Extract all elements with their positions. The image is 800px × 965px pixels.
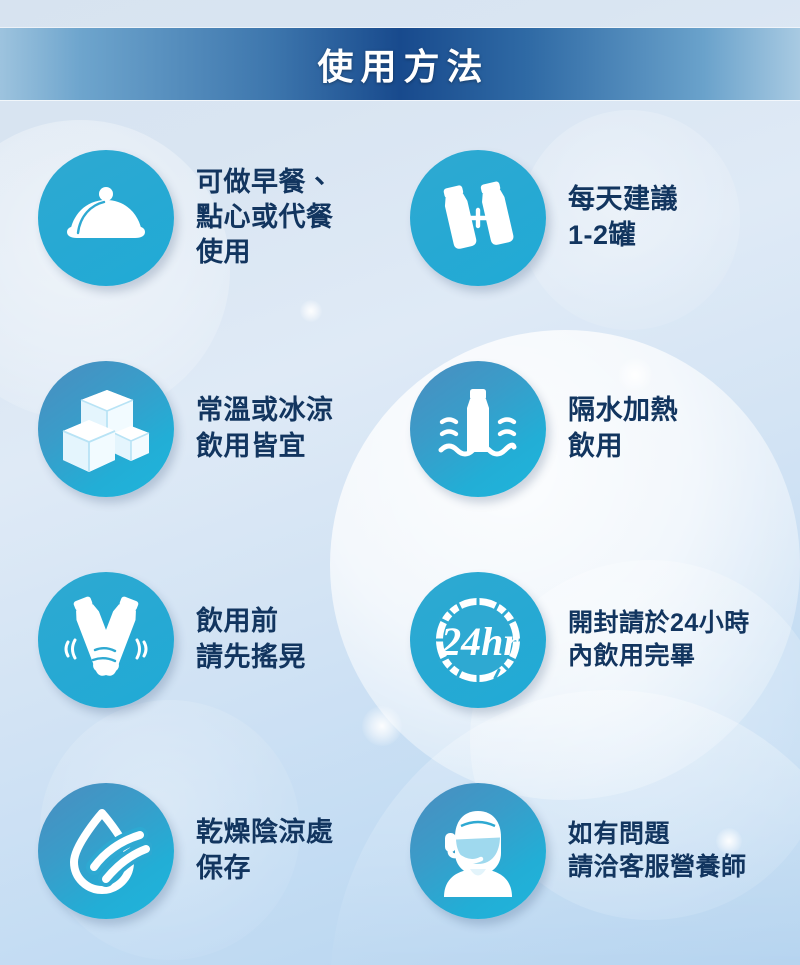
instruction-text: 如有問題 請洽客服營養師 [568, 818, 747, 883]
ice-cubes-icon [59, 384, 153, 474]
clock-24hr-label: 24hr [440, 619, 519, 664]
instruction-text: 隔水加熱 飲用 [568, 393, 678, 463]
icon-circle [410, 361, 546, 497]
two-bottles-plus-icon [432, 176, 524, 260]
header-banner: 使用方法 [0, 28, 800, 100]
instruction-text: 飲用前 請先搖晃 [196, 604, 306, 674]
instructions-grid: 可做早餐、 點心或代餐 使用 [0, 112, 800, 956]
instruction-text: 常溫或冰涼 飲用皆宜 [196, 393, 334, 463]
usage-instructions-page: 使用方法 可做早餐、 點心或代餐 使用 [0, 0, 800, 965]
instruction-item-contact-support: 如有問題 請洽客服營養師 [400, 745, 800, 956]
icon-circle [38, 572, 174, 708]
icon-circle [38, 361, 174, 497]
instruction-item-daily-amount: 每天建議 1-2罐 [400, 112, 800, 323]
icon-circle: 24hr [410, 572, 546, 708]
customer-service-agent-icon [430, 805, 526, 897]
instruction-item-warm-in-water: 隔水加熱 飲用 [400, 323, 800, 534]
no-moisture-droplet-icon [60, 805, 152, 897]
shaking-bottle-icon [57, 594, 155, 686]
instruction-text: 開封請於24小時 內飲用完畢 [568, 607, 750, 672]
cloche-icon [63, 183, 149, 253]
icon-circle [38, 150, 174, 286]
bottle-in-water-icon [430, 386, 526, 472]
page-title: 使用方法 [310, 38, 489, 90]
icon-circle [38, 783, 174, 919]
instruction-text: 每天建議 1-2罐 [568, 182, 678, 252]
icon-circle [410, 150, 546, 286]
clock-24hr-icon: 24hr [426, 588, 530, 692]
instruction-text: 可做早餐、 點心或代餐 使用 [196, 165, 334, 270]
icon-circle [410, 783, 546, 919]
instruction-item-meal-replacement: 可做早餐、 點心或代餐 使用 [0, 112, 400, 323]
instruction-item-temperature: 常溫或冰涼 飲用皆宜 [0, 323, 400, 534]
instruction-item-shake-before-use: 飲用前 請先搖晃 [0, 534, 400, 745]
instruction-text: 乾燥陰涼處 保存 [196, 815, 334, 885]
instruction-item-storage: 乾燥陰涼處 保存 [0, 745, 400, 956]
instruction-item-consume-within-24hr: 24hr 開封請於24小時 內飲用完畢 [400, 534, 800, 745]
